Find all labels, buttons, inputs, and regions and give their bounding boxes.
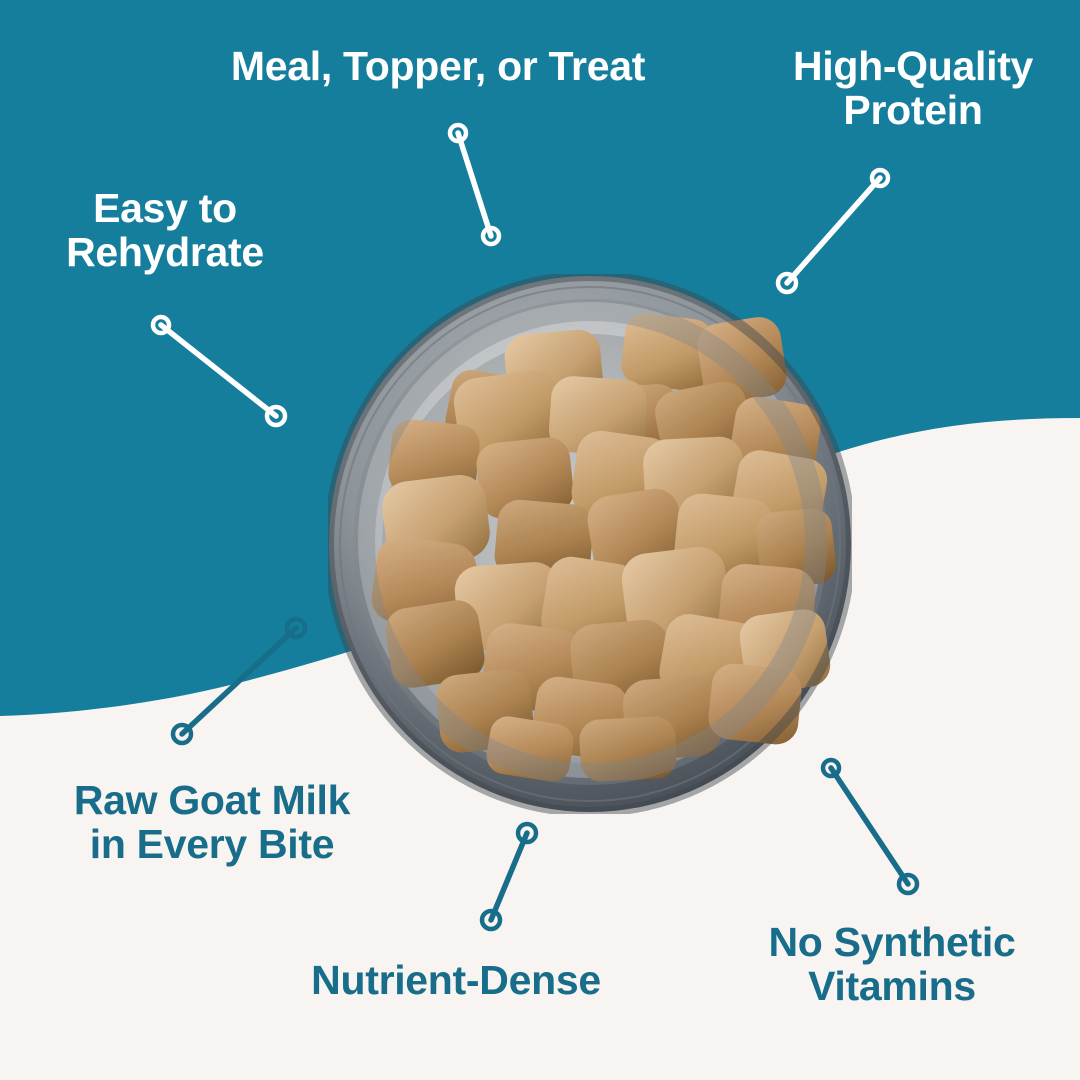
feature-label-meal-topper-treat: Meal, Topper, or Treat — [0, 44, 876, 88]
feature-label-high-quality-protein: High-Quality Protein — [748, 44, 1078, 133]
feature-label-raw-goat-milk: Raw Goat Milk in Every Bite — [0, 778, 424, 867]
product-photo-bowl — [328, 274, 852, 814]
feature-label-easy-to-rehydrate: Easy to Rehydrate — [0, 186, 330, 275]
feature-label-no-synthetic-vitamins: No Synthetic Vitamins — [704, 920, 1080, 1009]
product-feature-infographic: Meal, Topper, or Treat High-Quality Prot… — [0, 0, 1080, 1080]
bowl-illustration — [328, 274, 852, 814]
feature-label-nutrient-dense: Nutrient-Dense — [258, 958, 654, 1002]
